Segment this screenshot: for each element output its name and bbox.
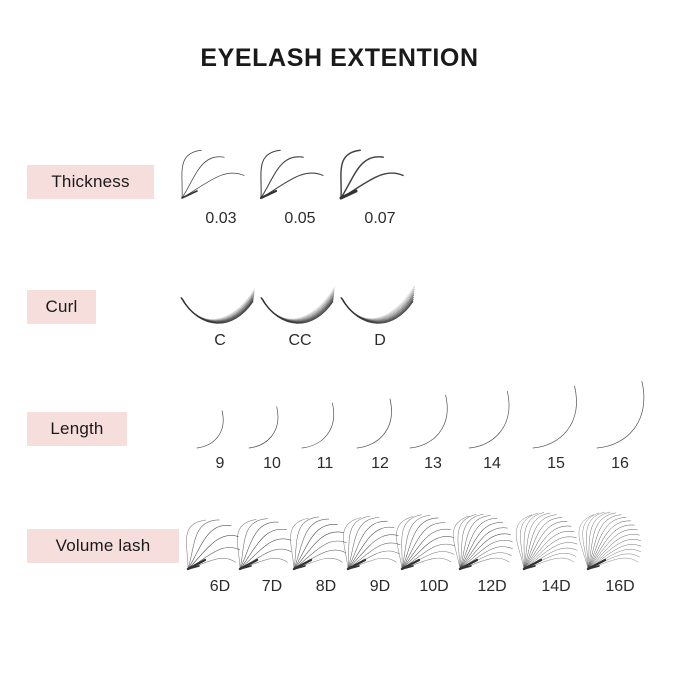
- eyelash-extension-infographic: EYELASH EXTENTION Thickness0.030.050.07C…: [0, 0, 679, 679]
- row-label-volume-lash: Volume lash: [56, 536, 151, 556]
- lash-specimen-volume-lash-16D: [582, 508, 658, 574]
- lash-icon-volume-lash-16D: [582, 508, 658, 574]
- lash-caption-volume-lash-16D: 16D: [580, 578, 660, 596]
- row-label-box-volume-lash: Volume lash: [27, 529, 179, 563]
- row-volume-lash: Volume lash6D7D8D9D10D12D14D16D: [0, 0, 679, 679]
